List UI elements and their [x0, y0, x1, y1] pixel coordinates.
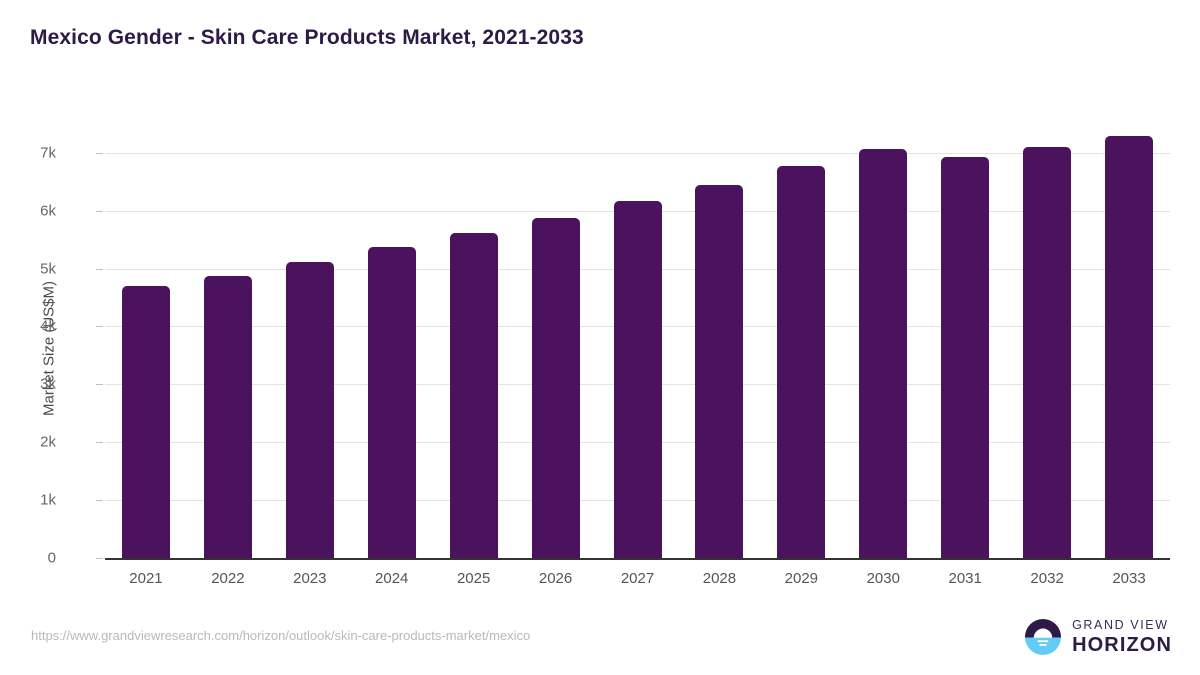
bar-2022[interactable]	[204, 276, 252, 558]
x-axis-line	[105, 558, 1170, 560]
y-tick-mark	[96, 442, 103, 443]
y-tick-label: 4k	[0, 318, 56, 335]
gridline	[105, 153, 1170, 154]
x-tick-label: 2031	[920, 570, 1010, 587]
plot-area: 01k2k3k4k5k6k7k 202120222023202420252026…	[105, 118, 1170, 558]
x-tick-label: 2025	[429, 570, 519, 587]
x-tick-label: 2033	[1084, 570, 1174, 587]
bar-2031[interactable]	[941, 157, 989, 558]
y-tick-mark	[96, 211, 103, 212]
logo-line-horizon: HORIZON	[1072, 635, 1172, 655]
logo-wordmark: GRAND VIEW HORIZON	[1072, 619, 1172, 655]
page-title: Mexico Gender - Skin Care Products Marke…	[30, 26, 584, 50]
bar-2028[interactable]	[695, 185, 743, 558]
bar-2026[interactable]	[532, 218, 580, 558]
bar-2033[interactable]	[1105, 136, 1153, 558]
x-tick-label: 2028	[674, 570, 764, 587]
bar-2030[interactable]	[859, 149, 907, 558]
bar-2021[interactable]	[122, 286, 170, 558]
y-tick-mark	[96, 153, 103, 154]
x-tick-label: 2029	[756, 570, 846, 587]
y-tick-label: 3k	[0, 376, 56, 393]
x-tick-label: 2023	[265, 570, 355, 587]
y-tick-label: 1k	[0, 492, 56, 509]
y-tick-mark	[96, 384, 103, 385]
chart-page: Mexico Gender - Skin Care Products Marke…	[0, 0, 1200, 675]
bar-2024[interactable]	[368, 247, 416, 558]
x-tick-label: 2027	[593, 570, 683, 587]
y-tick-label: 0	[0, 550, 56, 567]
x-tick-label: 2021	[101, 570, 191, 587]
bar-2027[interactable]	[614, 201, 662, 558]
bar-2025[interactable]	[450, 233, 498, 558]
y-tick-label: 6k	[0, 202, 56, 219]
bar-2029[interactable]	[777, 166, 825, 558]
source-url[interactable]: https://www.grandviewresearch.com/horizo…	[31, 628, 530, 643]
x-tick-label: 2024	[347, 570, 437, 587]
x-tick-label: 2032	[1002, 570, 1092, 587]
x-tick-label: 2026	[511, 570, 601, 587]
y-tick-mark	[96, 500, 103, 501]
x-tick-label: 2022	[183, 570, 273, 587]
y-tick-label: 5k	[0, 260, 56, 277]
x-tick-label: 2030	[838, 570, 928, 587]
y-tick-mark	[96, 269, 103, 270]
y-tick-mark	[96, 326, 103, 327]
bar-2032[interactable]	[1023, 147, 1071, 558]
y-tick-mark	[96, 558, 103, 559]
y-tick-label: 7k	[0, 144, 56, 161]
logo-line-grand-view: GRAND VIEW	[1072, 619, 1172, 632]
brand-logo[interactable]: GRAND VIEW HORIZON	[1023, 617, 1172, 657]
bar-2023[interactable]	[286, 262, 334, 558]
y-tick-label: 2k	[0, 434, 56, 451]
horizon-circle-logo-icon	[1023, 617, 1063, 657]
